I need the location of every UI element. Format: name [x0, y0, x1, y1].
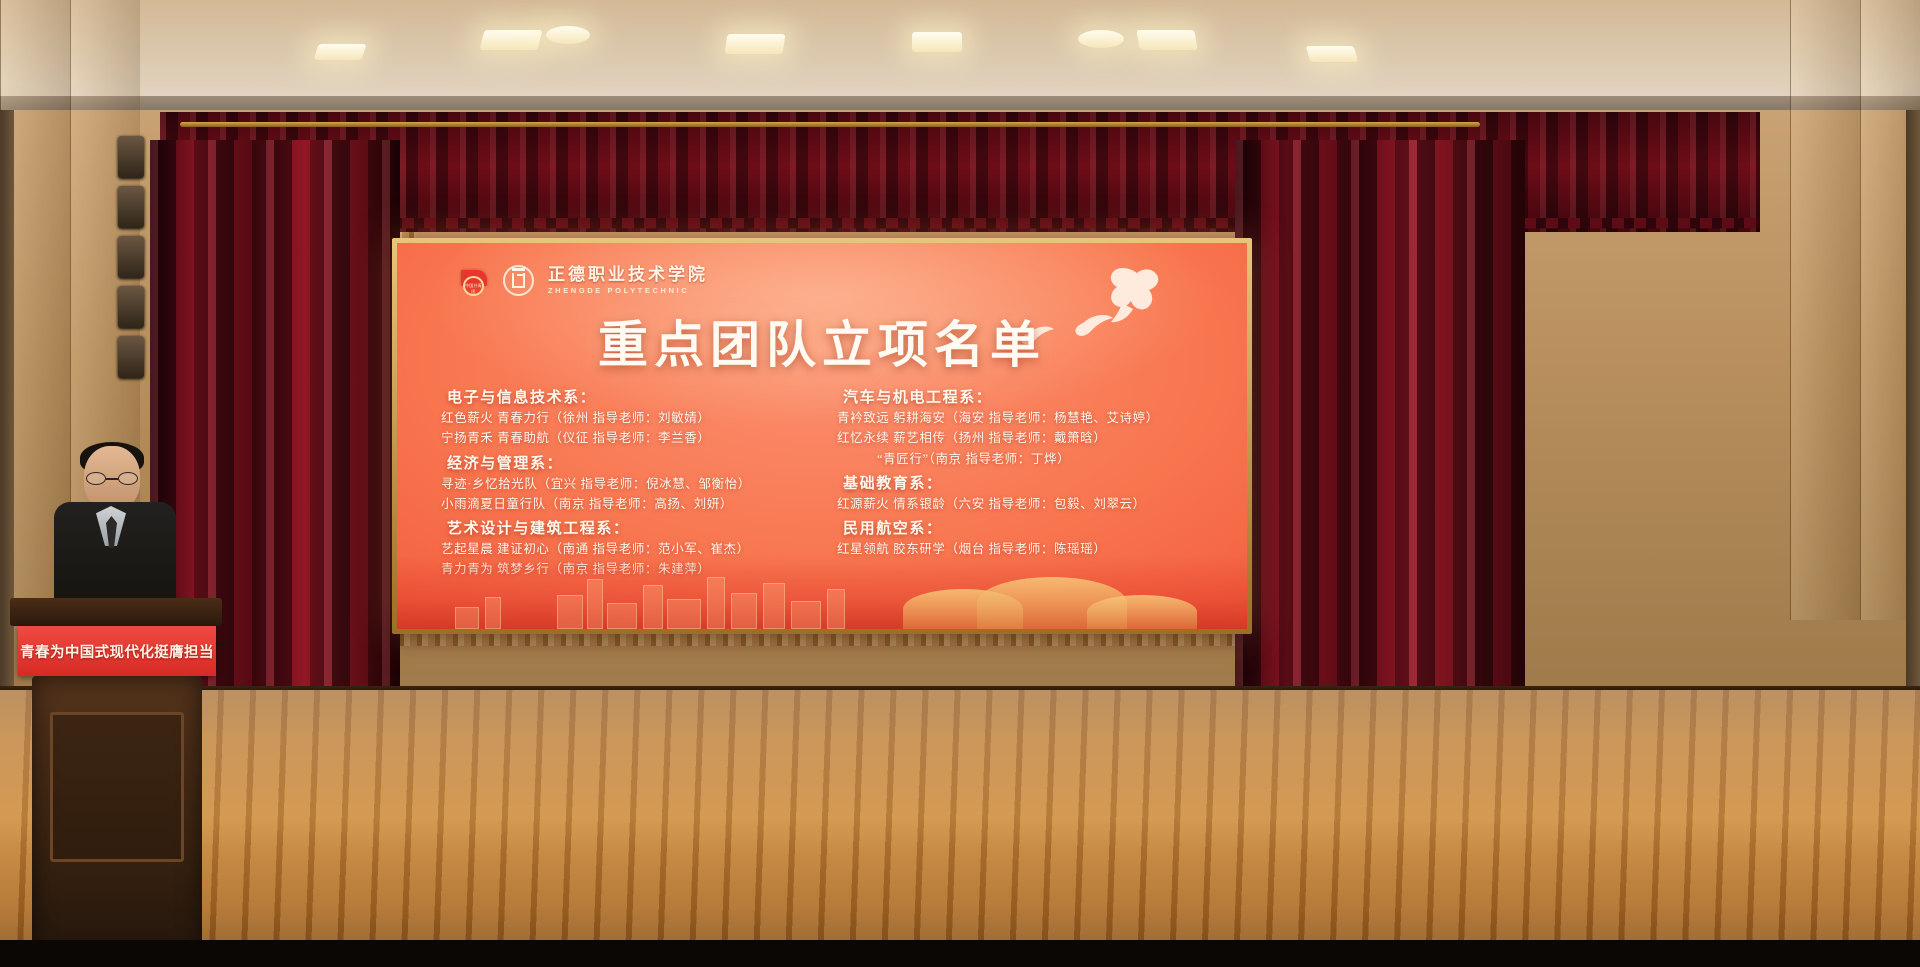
wall-speaker: [118, 286, 144, 328]
department-heading: 电子与信息技术系：: [423, 386, 811, 407]
university-name-cn: 正德职业技术学院: [548, 266, 708, 284]
column-right: 汽车与机电工程系： 青衿致远 躬耕海安（海安 指导老师：杨慧艳、艾诗婷） 红忆永…: [811, 383, 1221, 580]
ceiling-light: [313, 44, 366, 60]
team-entry: 青衿致远 躬耕海安（海安 指导老师：杨慧艳、艾诗婷）: [833, 408, 1221, 428]
department-heading: 经济与管理系：: [423, 452, 811, 473]
building-shape: [587, 579, 603, 629]
podium-banner: 青春为中国式现代化挺膺担当: [18, 626, 216, 676]
led-screen-frame: 中国共青团 正德职业技术学院 ZHENGDE POLYTECHNIC: [392, 238, 1252, 634]
building-shape: [557, 595, 583, 629]
led-screen: 中国共青团 正德职业技术学院 ZHENGDE POLYTECHNIC: [397, 243, 1247, 629]
youth-league-badge-icon: 中国共青团: [459, 266, 489, 296]
team-entry: 寻迹·乡忆拾光队（宜兴 指导老师：倪冰慧、邹衡怡）: [423, 474, 811, 494]
auditorium-stage: 中国共青团 正德职业技术学院 ZHENGDE POLYTECHNIC: [0, 0, 1920, 967]
university-name-en: ZHENGDE POLYTECHNIC: [548, 286, 708, 295]
glasses-icon: [86, 472, 138, 485]
stage-floor: [0, 690, 1920, 967]
stage-curtain-right: [1235, 140, 1525, 720]
team-entry: 红源薪火 情系银龄（六安 指导老师：包毅、刘翠云）: [833, 494, 1221, 514]
building-shape: [827, 589, 845, 629]
department-columns: 电子与信息技术系： 红色薪火 青春力行（徐州 指导老师：刘敏婧） 宁扬青禾 青春…: [397, 383, 1247, 580]
podium: 青春为中国式现代化挺膺担当: [10, 598, 222, 967]
ceiling-light: [725, 34, 786, 54]
wall-recess: [1906, 110, 1920, 730]
building-shape: [763, 583, 785, 629]
ceiling-light: [480, 30, 543, 50]
building-shape: [707, 577, 725, 629]
skyline-decoration: [397, 555, 1247, 629]
department-heading: 民用航空系：: [833, 517, 1221, 538]
wall-speaker: [118, 336, 144, 378]
screen-title: 重点团队立项名单: [397, 305, 1247, 377]
floor-reflection: [0, 690, 1920, 850]
team-entry: 红色薪火 青春力行（徐州 指导老师：刘敏婧）: [423, 408, 811, 428]
building-shape: [607, 603, 637, 629]
team-entry: 红忆永续 薪艺相传（扬州 指导老师：戴箫晗）: [833, 428, 1221, 448]
podium-top: [10, 598, 222, 626]
wall-speaker: [118, 236, 144, 278]
screen-logo-group: 中国共青团 正德职业技术学院 ZHENGDE POLYTECHNIC: [459, 265, 708, 296]
presenter: [50, 446, 180, 606]
building-shape: [455, 607, 479, 629]
building-shape: [791, 601, 821, 629]
podium-panel-inset: [50, 712, 184, 862]
ceiling-light: [1306, 46, 1359, 62]
curtain-folds: [1235, 140, 1525, 720]
building-shape: [485, 597, 501, 629]
building-shape: [667, 599, 701, 629]
department-heading: 汽车与机电工程系：: [833, 386, 1221, 407]
wall-speaker: [118, 186, 144, 228]
hill-shape: [1087, 595, 1197, 629]
ceiling-light: [1136, 30, 1198, 50]
university-name-block: 正德职业技术学院 ZHENGDE POLYTECHNIC: [548, 266, 708, 295]
team-entry: 小雨滴夏日童行队（南京 指导老师：高扬、刘妍）: [423, 494, 811, 514]
wall-panel: [1790, 0, 1860, 620]
building-shape: [643, 585, 663, 629]
ceiling-light: [912, 32, 962, 52]
column-left: 电子与信息技术系： 红色薪火 青春力行（徐州 指导老师：刘敏婧） 宁扬青禾 青春…: [423, 383, 811, 580]
school-seal-icon: [503, 265, 534, 296]
curtain-rod: [180, 122, 1480, 127]
department-heading: 艺术设计与建筑工程系：: [423, 517, 811, 538]
team-entry: 宁扬青禾 青春助航（仪征 指导老师：李兰香）: [423, 428, 811, 448]
department-heading: 基础教育系：: [833, 472, 1221, 493]
podium-banner-text: 青春为中国式现代化挺膺担当: [20, 641, 214, 662]
ceiling-light: [1078, 30, 1124, 48]
team-entry: “青匠行”（南京 指导老师：丁烨）: [833, 449, 1221, 469]
ceiling-light: [546, 26, 590, 44]
building-shape: [731, 593, 757, 629]
podium-body: [32, 676, 202, 965]
foreground-shadow: [0, 940, 1920, 967]
wall-speaker: [118, 136, 144, 178]
